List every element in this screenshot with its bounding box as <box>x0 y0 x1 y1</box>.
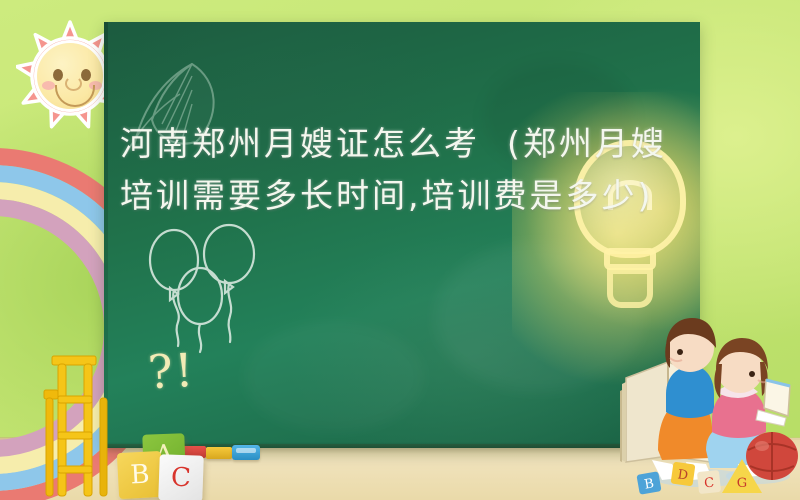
chalk-stick-yellow <box>206 447 232 459</box>
floor-alphabet-blocks: B D C G <box>636 455 796 500</box>
bulb-neck <box>604 248 656 270</box>
sun-cheek-left <box>42 81 55 90</box>
sun-eye-right <box>81 69 91 81</box>
sun-face <box>34 40 106 112</box>
sun-eye-left <box>53 69 63 81</box>
alphabet-block-c: C <box>158 454 204 500</box>
question-exclaim-mark: ?! <box>147 347 196 395</box>
step-ladder-icon <box>38 350 124 500</box>
svg-text:D: D <box>677 467 689 483</box>
poster-canvas: 河南郑州月嫂证怎么考 (郑州月嫂培训需要多长时间,培训费是多少) ?! A B … <box>0 0 800 500</box>
svg-text:G: G <box>737 476 747 491</box>
sun-mouth <box>55 85 95 107</box>
chalk-stick-blue <box>232 445 260 460</box>
chalkboard: 河南郑州月嫂证怎么考 (郑州月嫂培训需要多长时间,培训费是多少) ?! <box>104 22 700 448</box>
board-headline: 河南郑州月嫂证怎么考 (郑州月嫂培训需要多长时间,培训费是多少) <box>120 118 690 222</box>
svg-text:C: C <box>703 476 715 492</box>
